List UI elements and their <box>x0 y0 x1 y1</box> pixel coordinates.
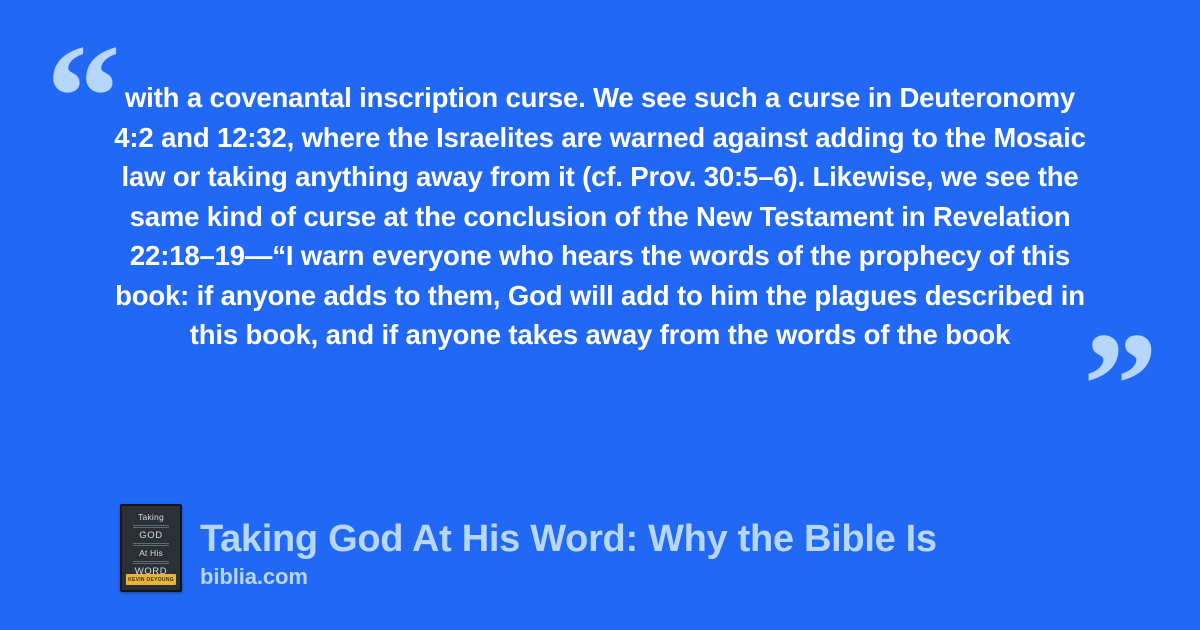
quote-card: “ with a covenantal inscription curse. W… <box>0 0 1200 630</box>
cover-line-god: GOD <box>139 531 162 541</box>
closing-quote-icon: ” <box>1083 310 1158 460</box>
site-name: biblia.com <box>200 563 937 591</box>
cover-author-name: Kevin DeYoung <box>128 577 174 583</box>
attribution-footer: Taking GOD At His WORD Kevin DeYoung Tak… <box>120 504 937 592</box>
cover-line-athis: At His <box>139 549 163 558</box>
book-title: Taking God At His Word: Why the Bible Is <box>200 519 937 560</box>
book-cover-thumbnail: Taking GOD At His WORD Kevin DeYoung <box>120 504 182 592</box>
cover-rule <box>133 561 169 564</box>
cover-author-band: Kevin DeYoung <box>126 574 176 585</box>
quote-text: with a covenantal inscription curse. We … <box>108 78 1092 355</box>
cover-rule <box>133 525 169 528</box>
cover-line-taking: Taking <box>138 513 164 522</box>
quote-body: with a covenantal inscription curse. We … <box>108 78 1092 355</box>
cover-rule <box>133 543 169 546</box>
attribution-text: Taking God At His Word: Why the Bible Is… <box>200 519 937 592</box>
